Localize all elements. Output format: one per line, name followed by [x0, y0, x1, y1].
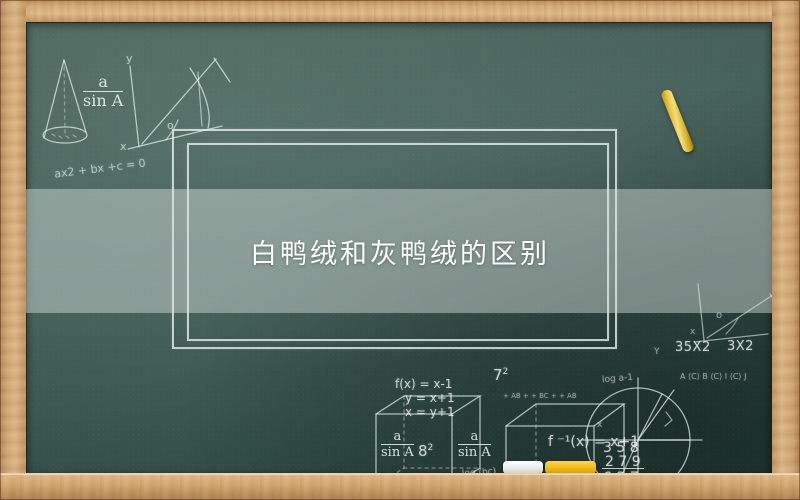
frame-rail-top: [0, 0, 800, 22]
exponent: 2: [503, 367, 509, 377]
chalk-text-fx-line3: x = y+1: [405, 405, 455, 419]
chalk-stick-yellow-wall: [660, 88, 695, 153]
chalk-text-seven-squared: 72: [493, 366, 508, 384]
base-number: 7: [493, 366, 503, 384]
chalk-fraction-a-sin-a-1: a sin A: [83, 74, 123, 109]
chalk-fraction-a-sin-a-2: a sin A: [381, 430, 414, 459]
fraction-numerator: a: [458, 430, 491, 444]
frame-ledge: [0, 474, 800, 500]
subtraction-bar: [602, 468, 644, 469]
chalk-text-mult-35x2: 35X2: [675, 340, 711, 355]
fraction-denominator: sin A: [381, 444, 414, 460]
chalk-text-fx-line2: y = x+1: [405, 391, 455, 405]
page-title: 白鸭绒和灰鸭绒的区别: [0, 189, 800, 313]
frame-rail-right: [772, 0, 800, 500]
base-number: 8: [418, 442, 428, 460]
exponent: 2: [428, 443, 434, 453]
title-card: a sin A ax2 + bx +c = 0 y x o o x f(x) =…: [0, 0, 800, 500]
chalk-label-axis-y-left: y: [126, 52, 133, 65]
fraction-numerator: a: [381, 430, 414, 444]
chalk-text-mult-3x2: 3X2: [727, 339, 754, 354]
chalk-text-eight-squared: 82: [418, 442, 433, 460]
chalk-text-log-a-1: log a-1: [602, 373, 634, 386]
chalk-label-axis-x-right: x: [690, 327, 695, 337]
page-title-text: 白鸭绒和灰鸭绒的区别: [250, 232, 550, 271]
frame-rail-left: [0, 0, 26, 500]
chalk-text-vector-sum: + AB + + BC + + AB: [503, 392, 577, 400]
chalk-text-matrix-row: A ⟨C⟩ B ⟨C⟩ I ⟨C⟩ J: [680, 372, 746, 381]
chalk-label-axis-x-left: x: [120, 140, 127, 153]
chalk-text-quadratic: ax2 + bx +c = 0: [54, 156, 147, 180]
fraction-denominator: sin A: [458, 444, 491, 460]
fraction-denominator: sin A: [83, 91, 123, 110]
chalk-text-fx-line1: f(x) = x-1: [395, 377, 452, 391]
chalk-fraction-a-sin-a-3: a sin A: [458, 430, 491, 459]
cone-diagram: [43, 60, 87, 143]
chalk-label-axis-x-circle: x: [597, 420, 602, 430]
fraction-numerator: a: [83, 74, 123, 91]
chalk-label-axis-y-circle: Y: [654, 347, 660, 357]
